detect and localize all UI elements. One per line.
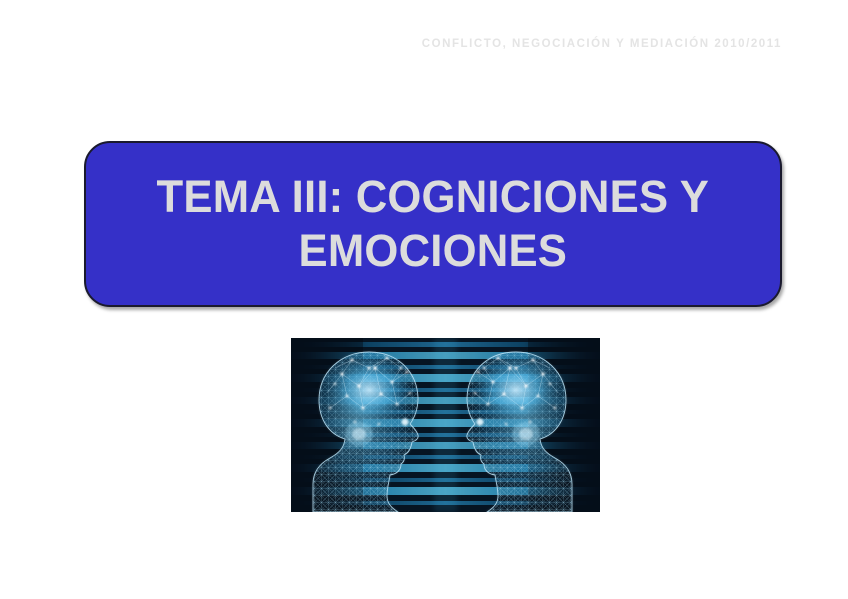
slide-canvas: CONFLICTO, NEGOCIACIÓN Y MEDIACIÓN 2010/…: [0, 0, 848, 599]
title-line-1: TEMA III: COGNICIONES Y: [157, 171, 710, 222]
neural-heads-image: [291, 338, 600, 512]
slide-running-header: CONFLICTO, NEGOCIACIÓN Y MEDIACIÓN 2010/…: [0, 38, 782, 50]
neural-heads-illustration: [291, 338, 600, 512]
title-line-2: EMOCIONES: [299, 225, 568, 276]
page-title: TEMA III: COGNICIONES Y EMOCIONES: [139, 170, 726, 278]
title-box: TEMA III: COGNICIONES Y EMOCIONES: [84, 141, 782, 307]
